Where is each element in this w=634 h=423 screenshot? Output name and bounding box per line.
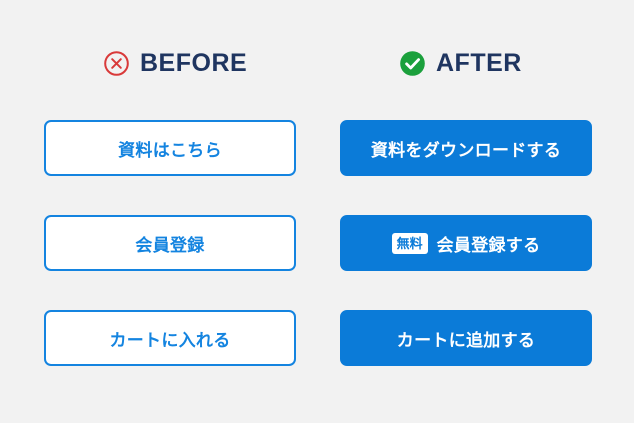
after-button-1[interactable]: 資料をダウンロードする (340, 120, 592, 176)
circle-cross-icon (103, 50, 130, 77)
column-headers: BEFORE AFTER (0, 42, 634, 84)
after-button-2-label: 会員登録する (437, 231, 541, 256)
before-button-2-label: 会員登録 (135, 231, 204, 256)
free-badge: 無料 (392, 233, 428, 254)
before-button-2[interactable]: 会員登録 (44, 215, 296, 271)
after-column-header: AFTER (399, 42, 522, 84)
comparison-row: 会員登録 無料 会員登録する (0, 215, 634, 271)
comparison-board: BEFORE AFTER 資料はこちら 資料をダウンロードする 会員登録 (0, 0, 634, 423)
button-comparison-grid: 資料はこちら 資料をダウンロードする 会員登録 無料 会員登録する カートに入れ… (0, 120, 634, 366)
circle-check-icon (399, 50, 426, 77)
before-column-header: BEFORE (103, 42, 247, 84)
after-button-3[interactable]: カートに追加する (340, 310, 592, 366)
comparison-row: カートに入れる カートに追加する (0, 310, 634, 366)
before-button-1-label: 資料はこちら (118, 136, 222, 161)
before-button-3[interactable]: カートに入れる (44, 310, 296, 366)
before-button-1[interactable]: 資料はこちら (44, 120, 296, 176)
before-header-label: BEFORE (140, 51, 247, 76)
after-button-1-label: 資料をダウンロードする (371, 136, 561, 161)
after-header-label: AFTER (436, 51, 522, 76)
after-button-2[interactable]: 無料 会員登録する (340, 215, 592, 271)
before-button-3-label: カートに入れる (109, 326, 230, 351)
after-button-3-label: カートに追加する (397, 326, 535, 351)
comparison-row: 資料はこちら 資料をダウンロードする (0, 120, 634, 176)
